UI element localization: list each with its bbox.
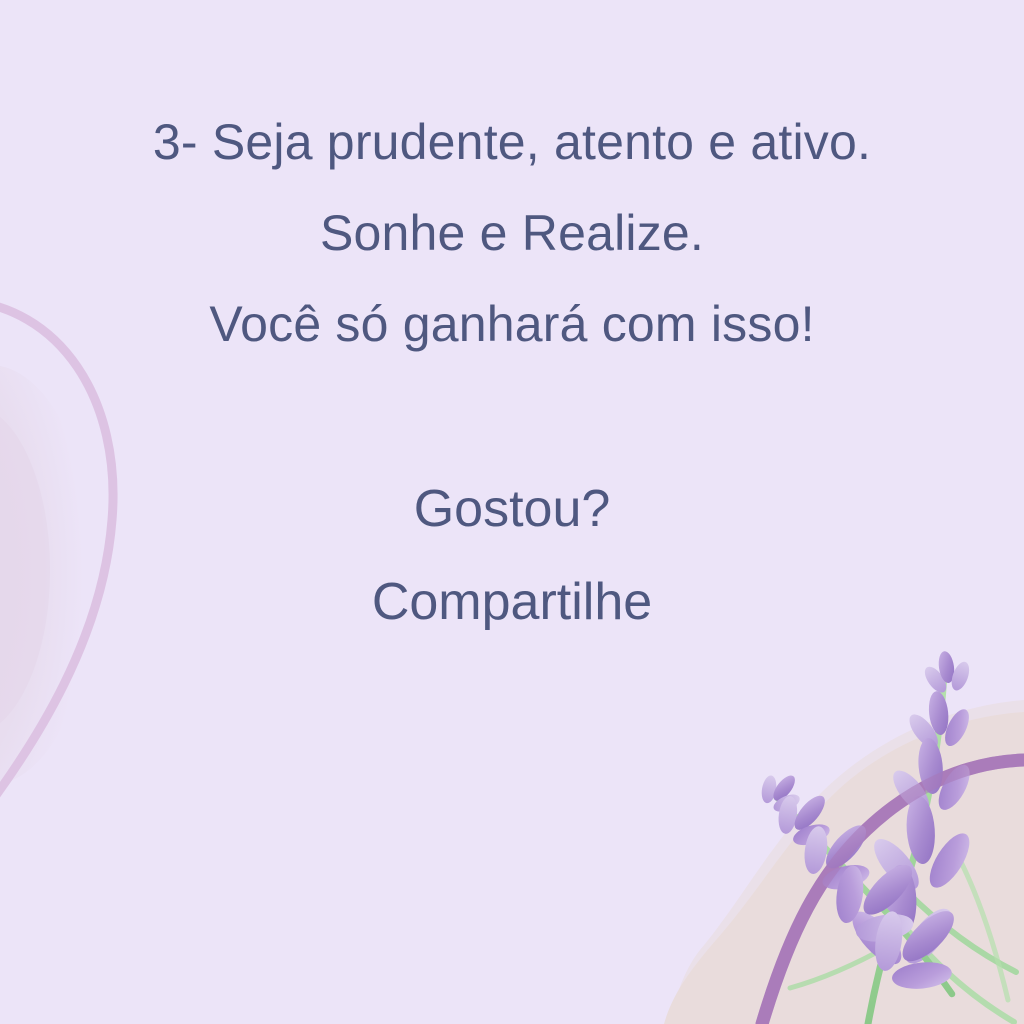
headline-line-2: Sonhe e Realize. (0, 188, 1024, 278)
headline-block: 3- Seja prudente, atento e ativo. Sonhe … (0, 96, 1024, 370)
cta-block: Gostou? Compartilhe (0, 462, 1024, 648)
cta-share-label: Compartilhe (0, 556, 1024, 648)
headline-line-1: 3- Seja prudente, atento e ativo. (0, 96, 1024, 188)
cta-question: Gostou? (0, 462, 1024, 556)
poster-canvas: 3- Seja prudente, atento e ativo. Sonhe … (0, 0, 1024, 1024)
headline-line-3: Você só ganhará com isso! (0, 278, 1024, 370)
text-layer: 3- Seja prudente, atento e ativo. Sonhe … (0, 0, 1024, 1024)
